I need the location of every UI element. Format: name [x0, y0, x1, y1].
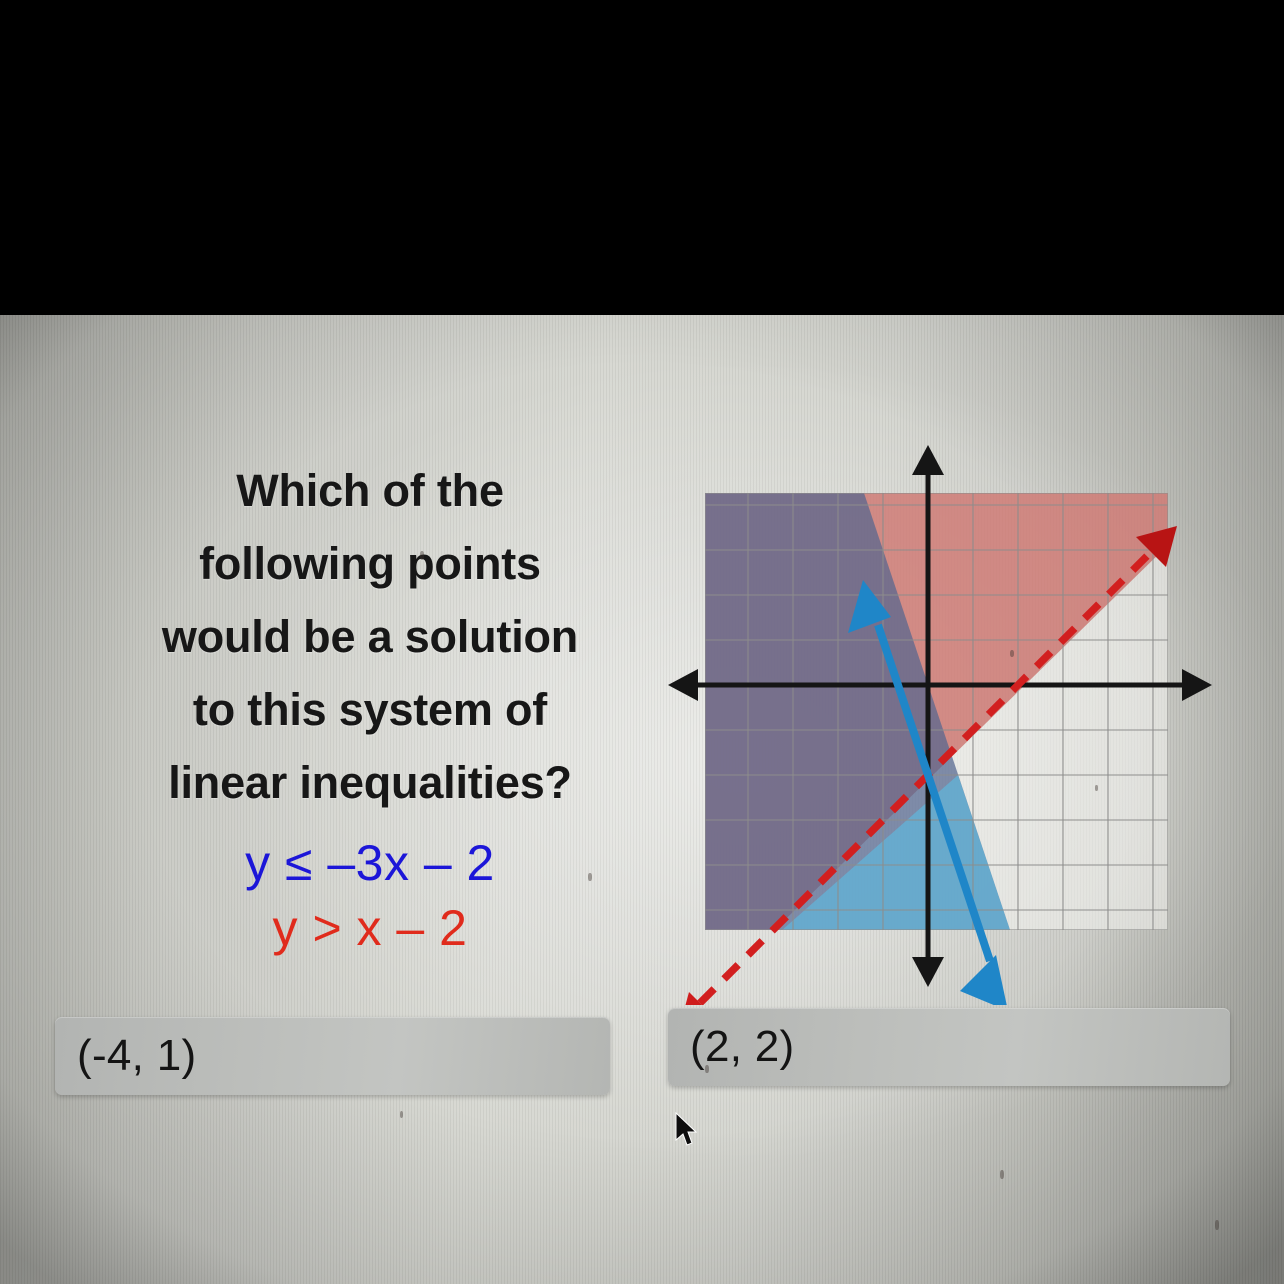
dust-speck: [1000, 1170, 1004, 1179]
y-axis-arrow-up: [912, 445, 944, 475]
dust-speck: [1215, 1220, 1219, 1230]
blue-line-arrow-lower-right: [960, 955, 1008, 1005]
question-line-5: linear inequalities?: [90, 747, 650, 820]
inequality-1: y ≤ –3x – 2: [90, 831, 650, 896]
photographed-screen-surface: Which of the following points would be a…: [0, 315, 1284, 1284]
black-letterbox-top: [0, 0, 1284, 315]
answer-option-button-1[interactable]: (-4, 1): [55, 1017, 610, 1095]
answer-option-label-1: (-4, 1): [55, 1031, 196, 1081]
screenshot-root: Which of the following points would be a…: [0, 0, 1284, 1284]
question-line-4: to this system of: [90, 674, 650, 747]
answer-option-button-2[interactable]: (2, 2): [668, 1008, 1230, 1086]
dust-speck: [705, 1065, 709, 1073]
dust-speck: [420, 551, 424, 560]
x-axis-arrow-right: [1182, 669, 1212, 701]
inequality-system: y ≤ –3x – 2 y > x – 2: [90, 831, 650, 961]
question-line-3: would be a solution: [90, 601, 650, 674]
dust-speck: [1010, 650, 1014, 657]
question-block: Which of the following points would be a…: [90, 455, 650, 961]
x-axis-arrow-left: [668, 669, 698, 701]
dust-speck: [400, 1111, 403, 1118]
inequality-graph: [660, 445, 1220, 1005]
inequality-2: y > x – 2: [90, 896, 650, 961]
dust-speck: [588, 873, 592, 881]
dust-speck: [1095, 785, 1098, 791]
y-axis-arrow-down: [912, 957, 944, 987]
question-line-2: following points: [90, 528, 650, 601]
answer-option-label-2: (2, 2): [668, 1022, 795, 1072]
question-line-1: Which of the: [90, 455, 650, 528]
